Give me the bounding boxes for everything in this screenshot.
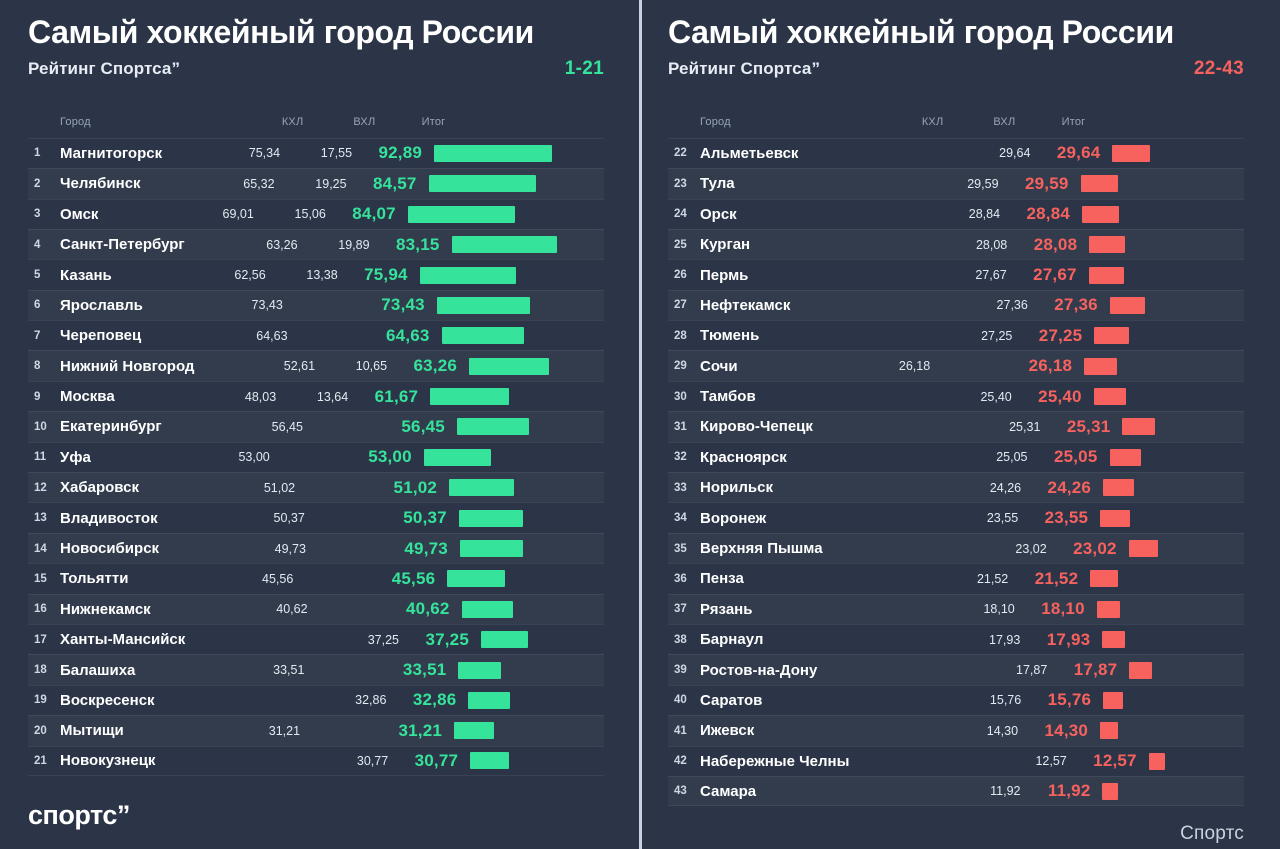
table-row: 30Тамбов25,4025,40 <box>668 381 1244 411</box>
cell-total: 26,18 <box>1004 356 1076 376</box>
cell-city: Балашиха <box>60 662 242 679</box>
cell-khl: 33,51 <box>242 663 306 677</box>
cell-rank: 7 <box>28 330 60 342</box>
cell-bar <box>450 655 604 684</box>
cell-city: Москва <box>60 388 214 405</box>
value-bar <box>1097 601 1120 618</box>
cell-total: 45,56 <box>367 569 439 589</box>
cell-city: Новосибирск <box>60 540 244 557</box>
value-bar <box>458 662 501 679</box>
cell-rank: 41 <box>668 725 700 737</box>
cell-vhl: 12,57 <box>997 754 1069 768</box>
cell-city: Воскресенск <box>60 692 252 709</box>
cell-vhl: 14,30 <box>948 724 1020 738</box>
table-row: 2Челябинск65,3219,2584,57 <box>28 168 604 198</box>
table-row: 33Норильск24,2624,26 <box>668 472 1244 502</box>
value-bar <box>1112 145 1150 162</box>
table-row: 21Новокузнецк30,7730,77 <box>28 746 604 776</box>
value-bar <box>459 510 523 527</box>
cell-bar <box>412 260 604 289</box>
cell-rank: 5 <box>28 269 60 281</box>
ranking-table: # Город КХЛ ВХЛ Итог 1Магнитогорск75,341… <box>28 106 604 776</box>
value-bar <box>1110 449 1142 466</box>
table-row: 4Санкт-Петербург63,2619,8983,15 <box>28 229 604 259</box>
cell-city: Екатеринбург <box>60 418 241 435</box>
cell-vhl: 18,10 <box>945 602 1017 616</box>
cell-rank: 37 <box>668 603 700 615</box>
cell-bar <box>1095 473 1244 502</box>
footer-logo: спортс” <box>28 800 130 831</box>
cell-vhl: 25,31 <box>970 420 1042 434</box>
cell-total: 33,51 <box>378 660 450 680</box>
cell-vhl: 13,64 <box>278 390 350 404</box>
cell-city: Набережные Челны <box>700 753 933 770</box>
cell-city: Рязань <box>700 601 881 618</box>
table-header-row: # Город КХЛ ВХЛ Итог <box>28 106 604 138</box>
cell-total: 17,93 <box>1022 630 1094 650</box>
cell-city: Ижевск <box>700 722 884 739</box>
cell-rank: 18 <box>28 664 60 676</box>
cell-rank: 17 <box>28 634 60 646</box>
table-row: 16Нижнекамск40,6240,62 <box>28 594 604 624</box>
table-row: 26Пермь27,6727,67 <box>668 259 1244 289</box>
table-row: 38Барнаул17,9317,93 <box>668 624 1244 654</box>
cell-vhl: 27,36 <box>958 298 1030 312</box>
cell-vhl: 13,38 <box>268 268 340 282</box>
cell-rank: 8 <box>28 360 60 372</box>
rank-range-badge: 22-43 <box>1194 58 1244 80</box>
value-bar <box>470 752 509 769</box>
cell-bar <box>461 351 604 380</box>
value-bar <box>1102 783 1117 800</box>
header-rank: # <box>28 116 60 128</box>
cell-rank: 28 <box>668 330 700 342</box>
cell-bar <box>1141 747 1244 776</box>
cell-total: 84,57 <box>349 174 421 194</box>
cell-rank: 34 <box>668 512 700 524</box>
cell-vhl: 19,89 <box>300 238 372 252</box>
cell-vhl: 27,25 <box>942 329 1014 343</box>
cell-rank: 20 <box>28 725 60 737</box>
table-row: 40Саратов15,7615,76 <box>668 685 1244 715</box>
cell-rank: 25 <box>668 239 700 251</box>
cell-bar <box>462 747 604 775</box>
value-bar <box>1149 753 1165 770</box>
cell-total: 21,52 <box>1010 569 1082 589</box>
cell-total: 29,59 <box>1001 174 1073 194</box>
cell-total: 25,05 <box>1030 447 1102 467</box>
table-row: 14Новосибирск49,7349,73 <box>28 533 604 563</box>
cell-total: 28,08 <box>1009 235 1081 255</box>
cell-total: 32,86 <box>388 690 460 710</box>
table-row: 43Самара11,9211,92 <box>668 776 1244 806</box>
cell-total: 56,45 <box>377 417 449 437</box>
value-bar <box>434 145 552 162</box>
table-row: 25Курган28,0828,08 <box>668 229 1244 259</box>
cell-rank: 12 <box>28 482 60 494</box>
header-bar-spacer <box>1089 106 1244 138</box>
cell-bar <box>1114 412 1244 441</box>
cell-bar <box>454 595 604 624</box>
cell-bar <box>1082 564 1244 593</box>
value-bar <box>1102 631 1125 648</box>
value-bar <box>1110 297 1145 314</box>
table-row: 35Верхняя Пышма23,0223,02 <box>668 533 1244 563</box>
cell-vhl: 23,02 <box>977 542 1049 556</box>
cell-bar <box>1081 230 1244 259</box>
cell-total: 17,87 <box>1049 660 1121 680</box>
cell-bar <box>434 321 604 350</box>
cell-khl: 62,56 <box>204 268 268 282</box>
cell-total: 73,43 <box>357 295 429 315</box>
cell-bar <box>1121 534 1244 563</box>
ranking-table: # Город КХЛ ВХЛ Итог 22Альметьевск29,642… <box>668 106 1244 807</box>
cell-bar <box>1073 169 1244 198</box>
cell-city: Пермь <box>700 267 873 284</box>
cell-city: Самара <box>700 783 886 800</box>
value-bar <box>1090 570 1117 587</box>
cell-city: Тюмень <box>700 327 878 344</box>
cell-total: 92,89 <box>354 143 426 163</box>
cell-city: Хабаровск <box>60 479 233 496</box>
cell-total: 27,67 <box>1009 265 1081 285</box>
cell-bar <box>451 503 604 532</box>
table-row: 15Тольятти45,5645,56 <box>28 563 604 593</box>
table-row: 34Воронеж23,5523,55 <box>668 502 1244 532</box>
cell-vhl: 17,93 <box>950 633 1022 647</box>
value-bar <box>437 297 530 314</box>
cell-bar <box>1074 200 1244 229</box>
cell-city: Пенза <box>700 570 874 587</box>
value-bar <box>1129 662 1152 679</box>
cell-vhl: 32,86 <box>316 693 388 707</box>
cell-total: 51,02 <box>369 478 441 498</box>
cell-vhl: 30,77 <box>318 754 390 768</box>
header-khl: КХЛ <box>241 116 305 128</box>
cell-khl: 69,01 <box>192 207 256 221</box>
cell-bar <box>1089 595 1244 624</box>
cell-bar <box>1095 686 1244 715</box>
cell-total: 23,02 <box>1049 539 1121 559</box>
cell-total: 11,92 <box>1022 781 1094 801</box>
table-row: 8Нижний Новгород52,6110,6563,26 <box>28 350 604 380</box>
header-total: Итог <box>377 116 449 128</box>
footer-logo: Спортс <box>1180 823 1244 845</box>
header-total: Итог <box>1017 116 1089 128</box>
cell-rank: 2 <box>28 178 60 190</box>
value-bar <box>1089 267 1124 284</box>
cell-city: Ханты-Мансийск <box>60 631 265 648</box>
cell-city: Уфа <box>60 449 208 466</box>
cell-total: 61,67 <box>350 387 422 407</box>
table-row: 28Тюмень27,2527,25 <box>668 320 1244 350</box>
page-title: Самый хоккейный город России <box>668 14 1244 52</box>
cell-total: 50,37 <box>379 508 451 528</box>
cell-rank: 4 <box>28 239 60 251</box>
cell-rank: 1 <box>28 147 60 159</box>
cell-city: Орск <box>700 206 866 223</box>
table-row: 20Мытищи31,2131,21 <box>28 715 604 745</box>
header-bar-spacer <box>449 106 604 138</box>
table-row: 18Балашиха33,5133,51 <box>28 654 604 684</box>
cell-bar <box>1102 443 1245 472</box>
cell-total: 28,84 <box>1002 204 1074 224</box>
value-bar <box>1094 388 1126 405</box>
cell-total: 31,21 <box>374 721 446 741</box>
table-row: 39Ростов-на-Дону17,8717,87 <box>668 654 1244 684</box>
cell-city: Верхняя Пышма <box>700 540 913 557</box>
cell-rank: 16 <box>28 603 60 615</box>
cell-bar <box>1086 382 1244 411</box>
table-row: 5Казань62,5613,3875,94 <box>28 259 604 289</box>
cell-total: 63,26 <box>389 356 461 376</box>
cell-rank: 22 <box>668 147 700 159</box>
header-vhl: ВХЛ <box>305 116 377 128</box>
value-bar <box>457 418 529 435</box>
cell-bar <box>473 625 604 654</box>
cell-rank: 15 <box>28 573 60 585</box>
table-row: 29Сочи26,1826,18 <box>668 350 1244 380</box>
cell-city: Тамбов <box>700 388 878 405</box>
value-bar <box>442 327 524 344</box>
page-subtitle: Рейтинг Спортса” <box>668 59 820 79</box>
cell-city: Ростов-на-Дону <box>700 662 913 679</box>
table-row: 32Красноярск25,0525,05 <box>668 442 1244 472</box>
value-bar <box>1103 692 1123 709</box>
cell-bar <box>1081 260 1244 289</box>
cell-rank: 11 <box>28 451 60 463</box>
cell-city: Нижнекамск <box>60 601 246 618</box>
cell-city: Барнаул <box>700 631 886 648</box>
cell-total: 18,10 <box>1017 599 1089 619</box>
cell-rank: 40 <box>668 694 700 706</box>
cell-rank: 31 <box>668 421 700 433</box>
cell-total: 15,76 <box>1023 690 1095 710</box>
cell-rank: 26 <box>668 269 700 281</box>
header-khl: КХЛ <box>881 116 945 128</box>
cell-vhl: 17,87 <box>977 663 1049 677</box>
value-bar <box>1094 327 1129 344</box>
value-bar <box>469 358 549 375</box>
cell-khl: 56,45 <box>241 420 305 434</box>
cell-total: 83,15 <box>372 235 444 255</box>
cell-total: 53,00 <box>344 447 416 467</box>
table-header-row: # Город КХЛ ВХЛ Итог <box>668 106 1244 138</box>
cell-khl: 40,62 <box>246 602 310 616</box>
cell-bar <box>429 291 604 320</box>
cell-city: Кирово-Чепецк <box>700 418 906 435</box>
cell-city: Казань <box>60 267 204 284</box>
cell-total: 40,62 <box>382 599 454 619</box>
cell-city: Курган <box>700 236 873 253</box>
cell-rank: 9 <box>28 391 60 403</box>
cell-city: Красноярск <box>700 449 894 466</box>
value-bar <box>1089 236 1125 253</box>
panel-header: Самый хоккейный город России Рейтинг Спо… <box>28 0 604 80</box>
table-row: 6Ярославль73,4373,43 <box>28 290 604 320</box>
value-bar <box>452 236 558 253</box>
value-bar <box>408 206 515 223</box>
value-bar <box>1100 510 1130 527</box>
value-bar <box>1081 175 1119 192</box>
cell-rank: 3 <box>28 208 60 220</box>
table-row: 11Уфа53,0053,00 <box>28 442 604 472</box>
cell-bar <box>1086 321 1244 350</box>
value-bar <box>454 722 494 739</box>
cell-vhl: 19,25 <box>277 177 349 191</box>
value-bar <box>1122 418 1154 435</box>
value-bar <box>1082 206 1119 223</box>
cell-bar <box>449 412 604 441</box>
cell-total: 64,63 <box>362 326 434 346</box>
cell-total: 49,73 <box>380 539 452 559</box>
cell-total: 23,55 <box>1020 508 1092 528</box>
cell-bar <box>1092 716 1244 745</box>
cell-khl: 53,00 <box>208 450 272 464</box>
table-row: 3Омск69,0115,0684,07 <box>28 199 604 229</box>
cell-rank: 21 <box>28 755 60 767</box>
cell-bar <box>1076 351 1244 380</box>
cell-vhl: 25,05 <box>958 450 1030 464</box>
value-bar <box>429 175 536 192</box>
cell-khl: 48,03 <box>214 390 278 404</box>
cell-khl: 73,43 <box>221 298 285 312</box>
value-bar <box>468 692 510 709</box>
cell-city: Челябинск <box>60 175 213 192</box>
cell-bar <box>460 686 604 715</box>
value-bar <box>1103 479 1134 496</box>
cell-vhl: 11,92 <box>950 784 1022 798</box>
cell-bar <box>400 200 604 229</box>
cell-total: 29,64 <box>1032 143 1104 163</box>
cell-vhl: 27,67 <box>937 268 1009 282</box>
value-bar <box>430 388 508 405</box>
cell-rank: 19 <box>28 694 60 706</box>
cell-vhl: 28,08 <box>937 238 1009 252</box>
cell-city: Омск <box>60 206 192 223</box>
cell-vhl: 15,76 <box>951 693 1023 707</box>
value-bar <box>481 631 528 648</box>
cell-vhl: 24,26 <box>951 481 1023 495</box>
cell-rank: 24 <box>668 208 700 220</box>
cell-total: 27,25 <box>1014 326 1086 346</box>
cell-rank: 6 <box>28 299 60 311</box>
cell-khl: 45,56 <box>231 572 295 586</box>
table-row: 22Альметьевск29,6429,64 <box>668 138 1244 168</box>
cell-vhl: 23,55 <box>948 511 1020 525</box>
cell-city: Новокузнецк <box>60 752 254 769</box>
cell-rank: 14 <box>28 543 60 555</box>
cell-total: 75,94 <box>340 265 412 285</box>
cell-bar <box>1092 503 1244 532</box>
cell-city: Тольятти <box>60 570 231 587</box>
value-bar <box>447 570 505 587</box>
cell-khl: 26,18 <box>868 359 932 373</box>
table-row: 36Пенза21,5221,52 <box>668 563 1244 593</box>
cell-vhl: 29,59 <box>929 177 1001 191</box>
cell-khl: 65,32 <box>213 177 277 191</box>
table-row: 12Хабаровск51,0251,02 <box>28 472 604 502</box>
cell-rank: 33 <box>668 482 700 494</box>
cell-city: Магнитогорск <box>60 145 218 162</box>
value-bar <box>420 267 516 284</box>
cell-rank: 30 <box>668 391 700 403</box>
cell-khl: 51,02 <box>233 481 297 495</box>
value-bar <box>449 479 514 496</box>
cell-khl: 75,34 <box>218 146 282 160</box>
cell-khl: 50,37 <box>243 511 307 525</box>
cell-city: Санкт-Петербург <box>60 236 236 253</box>
cell-city: Саратов <box>700 692 887 709</box>
table-row: 1Магнитогорск75,3417,5592,89 <box>28 138 604 168</box>
cell-rank: 27 <box>668 299 700 311</box>
page-title: Самый хоккейный город России <box>28 14 604 52</box>
cell-rank: 13 <box>28 512 60 524</box>
table-row: 31Кирово-Чепецк25,3125,31 <box>668 411 1244 441</box>
cell-total: 37,25 <box>401 630 473 650</box>
cell-bar <box>1121 655 1244 684</box>
cell-vhl: 28,84 <box>930 207 1002 221</box>
rank-range-badge: 1-21 <box>565 58 604 80</box>
panel-header: Самый хоккейный город России Рейтинг Спо… <box>668 0 1244 80</box>
header-rank: # <box>668 116 700 128</box>
cell-rank: 32 <box>668 451 700 463</box>
cell-rank: 36 <box>668 573 700 585</box>
cell-vhl: 37,25 <box>329 633 401 647</box>
cell-khl: 31,21 <box>238 724 302 738</box>
cell-total: 25,31 <box>1042 417 1114 437</box>
cell-bar <box>446 716 604 745</box>
cell-city: Череповец <box>60 327 226 344</box>
cell-khl: 64,63 <box>226 329 290 343</box>
cell-city: Владивосток <box>60 510 243 527</box>
header-city: Город <box>700 116 881 128</box>
cell-city: Тула <box>700 175 865 192</box>
cell-rank: 35 <box>668 543 700 555</box>
table-row: 41Ижевск14,3014,30 <box>668 715 1244 745</box>
table-row: 7Череповец64,6364,63 <box>28 320 604 350</box>
cell-vhl: 17,55 <box>282 146 354 160</box>
table-row: 37Рязань18,1018,10 <box>668 594 1244 624</box>
cell-bar <box>1104 139 1244 168</box>
cell-rank: 23 <box>668 178 700 190</box>
panel-ranks-22-43: Самый хоккейный город России Рейтинг Спо… <box>640 0 1280 849</box>
cell-bar <box>421 169 604 198</box>
header-vhl: ВХЛ <box>945 116 1017 128</box>
value-bar <box>1100 722 1118 739</box>
cell-rank: 29 <box>668 360 700 372</box>
table-row: 27Нефтекамск27,3627,36 <box>668 290 1244 320</box>
cell-bar <box>1094 777 1244 805</box>
cell-bar <box>439 564 604 593</box>
table-row: 19Воскресенск32,8632,86 <box>28 685 604 715</box>
table-row: 24Орск28,8428,84 <box>668 199 1244 229</box>
table-row: 42Набережные Челны12,5712,57 <box>668 746 1244 776</box>
cell-total: 27,36 <box>1030 295 1102 315</box>
cell-khl: 49,73 <box>244 542 308 556</box>
table-row: 17Ханты-Мансийск37,2537,25 <box>28 624 604 654</box>
cell-bar <box>444 230 604 259</box>
cell-rank: 39 <box>668 664 700 676</box>
cell-bar <box>422 382 604 411</box>
panel-divider <box>639 0 642 849</box>
cell-vhl: 29,64 <box>960 146 1032 160</box>
cell-bar <box>1102 291 1244 320</box>
page-subtitle: Рейтинг Спортса” <box>28 59 180 79</box>
table-row: 23Тула29,5929,59 <box>668 168 1244 198</box>
cell-total: 12,57 <box>1069 751 1141 771</box>
cell-city: Альметьевск <box>700 145 896 162</box>
